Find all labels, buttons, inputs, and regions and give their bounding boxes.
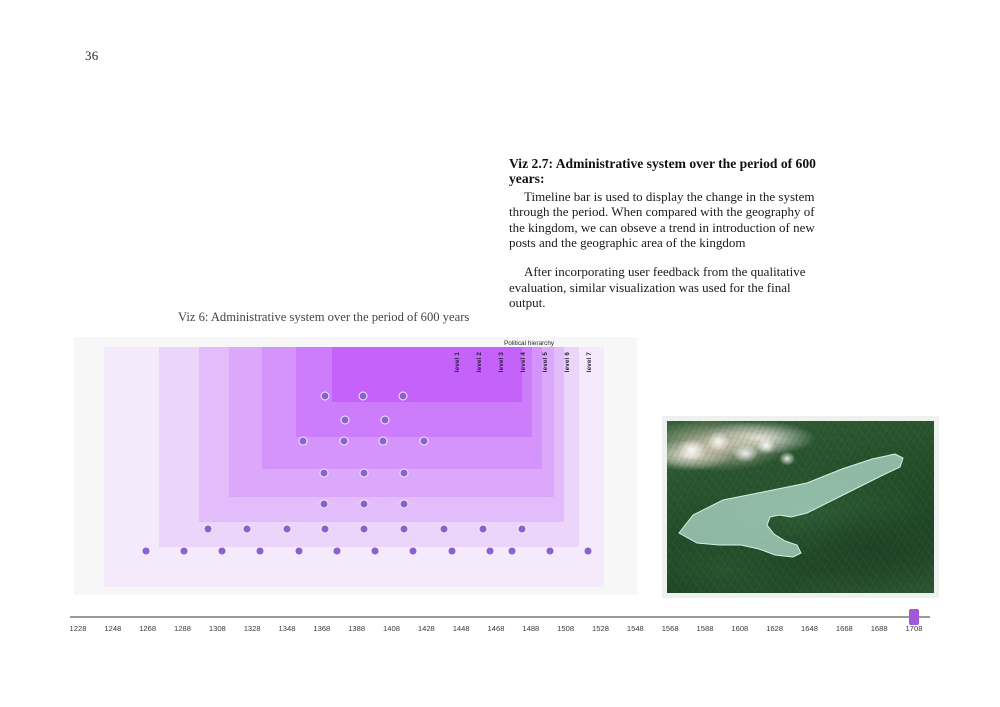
body-paragraph-1: Timeline bar is used to display the chan… xyxy=(509,189,829,251)
timeline-tick[interactable]: 1548 xyxy=(627,624,644,633)
timeline-tick[interactable]: 1608 xyxy=(731,624,748,633)
timeline-tick[interactable]: 1688 xyxy=(871,624,888,633)
event-dot[interactable] xyxy=(371,547,380,556)
event-dot[interactable] xyxy=(360,525,369,534)
event-dot[interactable] xyxy=(142,547,151,556)
event-dot[interactable] xyxy=(584,547,593,556)
event-dot[interactable] xyxy=(360,469,369,478)
satellite-map-image xyxy=(667,421,934,593)
timeline-tick[interactable]: 1388 xyxy=(348,624,365,633)
timeline-handle[interactable] xyxy=(909,609,919,625)
event-dot[interactable] xyxy=(299,437,308,446)
event-dot[interactable] xyxy=(440,525,449,534)
event-dot[interactable] xyxy=(360,500,369,509)
timeline-tick[interactable]: 1428 xyxy=(418,624,435,633)
figure-caption: Viz 6: Administrative system over the pe… xyxy=(178,310,469,325)
timeline-tick[interactable]: 1628 xyxy=(766,624,783,633)
event-dot[interactable] xyxy=(204,525,213,534)
timeline-tick[interactable]: 1448 xyxy=(453,624,470,633)
event-dot[interactable] xyxy=(400,525,409,534)
timeline-tick[interactable]: 1288 xyxy=(174,624,191,633)
timeline-tick[interactable]: 1568 xyxy=(662,624,679,633)
event-dot[interactable] xyxy=(409,547,418,556)
event-dot[interactable] xyxy=(546,547,555,556)
event-dot[interactable] xyxy=(321,392,330,401)
timeline-tick[interactable]: 1528 xyxy=(592,624,609,633)
timeline-tick[interactable]: 1368 xyxy=(313,624,330,633)
event-dot[interactable] xyxy=(243,525,252,534)
event-dot[interactable] xyxy=(400,469,409,478)
timeline-slider[interactable]: 1228124812681288130813281348136813881408… xyxy=(70,612,930,642)
timeline-tick[interactable]: 1648 xyxy=(801,624,818,633)
event-dot[interactable] xyxy=(486,547,495,556)
event-dot[interactable] xyxy=(320,469,329,478)
event-dot[interactable] xyxy=(218,547,227,556)
timeline-tick[interactable]: 1588 xyxy=(697,624,714,633)
timeline-tick[interactable]: 1468 xyxy=(488,624,505,633)
event-dot[interactable] xyxy=(400,500,409,509)
page-number: 36 xyxy=(85,48,99,64)
event-dot[interactable] xyxy=(321,525,330,534)
event-dot[interactable] xyxy=(320,500,329,509)
event-dot[interactable] xyxy=(508,547,517,556)
event-dot[interactable] xyxy=(379,437,388,446)
event-dot-layer xyxy=(74,337,637,595)
timeline-axis xyxy=(70,616,930,618)
event-dot[interactable] xyxy=(295,547,304,556)
event-dot[interactable] xyxy=(180,547,189,556)
event-dot[interactable] xyxy=(479,525,488,534)
timeline-tick[interactable]: 1708 xyxy=(906,624,923,633)
event-dot[interactable] xyxy=(283,525,292,534)
timeline-tick[interactable]: 1308 xyxy=(209,624,226,633)
event-dot[interactable] xyxy=(341,416,350,425)
administrative-system-chart: Political hierarchy level 1level 2level … xyxy=(74,337,637,595)
timeline-tick[interactable]: 1328 xyxy=(244,624,261,633)
timeline-tick[interactable]: 1508 xyxy=(557,624,574,633)
timeline-tick[interactable]: 1488 xyxy=(522,624,539,633)
event-dot[interactable] xyxy=(359,392,368,401)
kingdom-map-panel xyxy=(662,416,939,598)
timeline-tick[interactable]: 1268 xyxy=(139,624,156,633)
text-column: Viz 2.7: Administrative system over the … xyxy=(509,156,829,311)
event-dot[interactable] xyxy=(420,437,429,446)
event-dot[interactable] xyxy=(399,392,408,401)
timeline-tick[interactable]: 1668 xyxy=(836,624,853,633)
event-dot[interactable] xyxy=(333,547,342,556)
event-dot[interactable] xyxy=(518,525,527,534)
event-dot[interactable] xyxy=(256,547,265,556)
timeline-tick[interactable]: 1248 xyxy=(104,624,121,633)
event-dot[interactable] xyxy=(381,416,390,425)
section-heading: Viz 2.7: Administrative system over the … xyxy=(509,156,829,187)
timeline-tick[interactable]: 1348 xyxy=(279,624,296,633)
event-dot[interactable] xyxy=(340,437,349,446)
body-paragraph-2: After incorporating user feedback from t… xyxy=(509,264,829,310)
timeline-tick[interactable]: 1228 xyxy=(70,624,87,633)
timeline-tick[interactable]: 1408 xyxy=(383,624,400,633)
event-dot[interactable] xyxy=(448,547,457,556)
kingdom-territory-overlay xyxy=(667,421,934,593)
document-page: 36 Viz 2.7: Administrative system over t… xyxy=(0,0,1000,707)
